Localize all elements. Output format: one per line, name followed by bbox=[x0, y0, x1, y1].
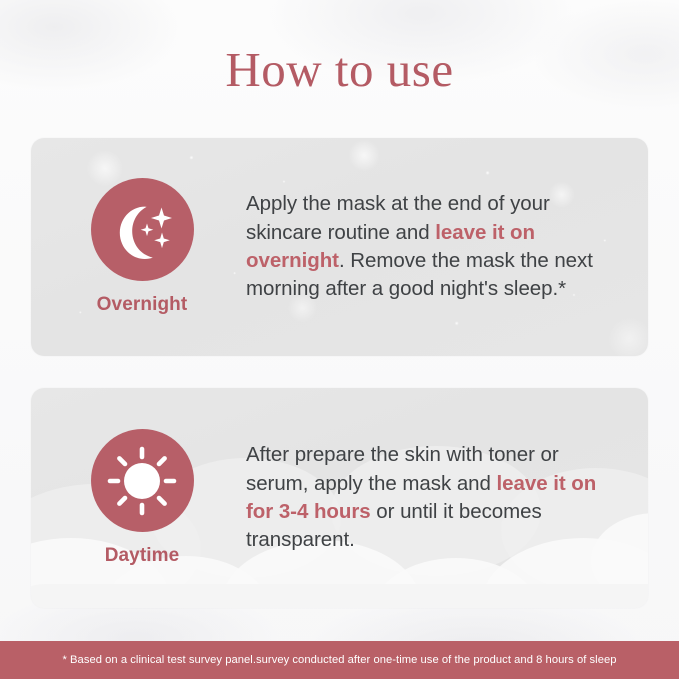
overnight-icon-column: Overnight bbox=[57, 138, 227, 356]
crescent-moon-stars-icon bbox=[91, 178, 194, 281]
daytime-card: Daytime After prepare the skin with tone… bbox=[31, 388, 648, 608]
daytime-text-block: After prepare the skin with toner or ser… bbox=[246, 388, 626, 608]
daytime-label: Daytime bbox=[105, 545, 180, 567]
how-to-use-infographic: How to use Overnight bbox=[0, 0, 679, 679]
footer-disclaimer-text: * Based on a clinical test survey panel.… bbox=[62, 654, 616, 666]
overnight-label: Overnight bbox=[97, 294, 188, 316]
footer-disclaimer-band: * Based on a clinical test survey panel.… bbox=[0, 641, 679, 679]
sun-icon bbox=[91, 429, 194, 532]
overnight-text-block: Apply the mask at the end of your skinca… bbox=[246, 138, 626, 356]
overnight-card: Overnight Apply the mask at the end of y… bbox=[31, 138, 648, 356]
daytime-icon-column: Daytime bbox=[57, 388, 227, 608]
page-title: How to use bbox=[0, 44, 679, 95]
